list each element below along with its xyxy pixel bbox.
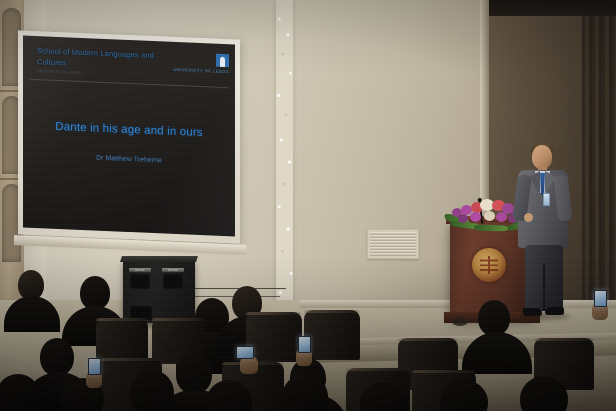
audience-head bbox=[130, 370, 174, 411]
audience-phone-screen[interactable] bbox=[594, 290, 607, 307]
lecture-hall-photo: School of Modern Languages and Cultures … bbox=[0, 0, 616, 411]
audience-head bbox=[440, 380, 488, 411]
leeds-logo-icon bbox=[216, 54, 229, 68]
audience-shoulders bbox=[4, 296, 60, 332]
vent-louvers bbox=[370, 232, 416, 256]
audience-head bbox=[40, 338, 74, 376]
slide-byline: Dr Matthew Treherne bbox=[23, 152, 235, 168]
audience-head bbox=[80, 276, 110, 310]
slide-brand-block: UNIVERSITY OF LEEDS bbox=[174, 52, 229, 74]
auditorium-seat[interactable] bbox=[304, 310, 360, 360]
lanyard-badge bbox=[543, 193, 550, 206]
audience-phone-screen[interactable] bbox=[298, 336, 311, 353]
alcove-header-beam bbox=[486, 0, 616, 16]
projector-screen-frame: School of Modern Languages and Cultures … bbox=[18, 30, 240, 243]
audience-phone-screen[interactable] bbox=[236, 346, 254, 359]
wall-vent-grille bbox=[367, 229, 419, 259]
auditorium-seat[interactable] bbox=[246, 312, 302, 362]
audience-head bbox=[176, 354, 212, 394]
audience bbox=[0, 262, 616, 411]
audience-head bbox=[0, 374, 40, 411]
presenter-hand bbox=[524, 213, 533, 222]
slide-title: Dante in his age and in ours bbox=[23, 120, 235, 141]
slide-org-name: School of Modern Languages and Cultures bbox=[37, 45, 162, 72]
projected-slide: School of Modern Languages and Cultures … bbox=[23, 36, 235, 237]
audience-phone-screen[interactable] bbox=[88, 358, 101, 375]
audience-shoulders bbox=[462, 332, 532, 374]
audience-head bbox=[478, 300, 510, 336]
